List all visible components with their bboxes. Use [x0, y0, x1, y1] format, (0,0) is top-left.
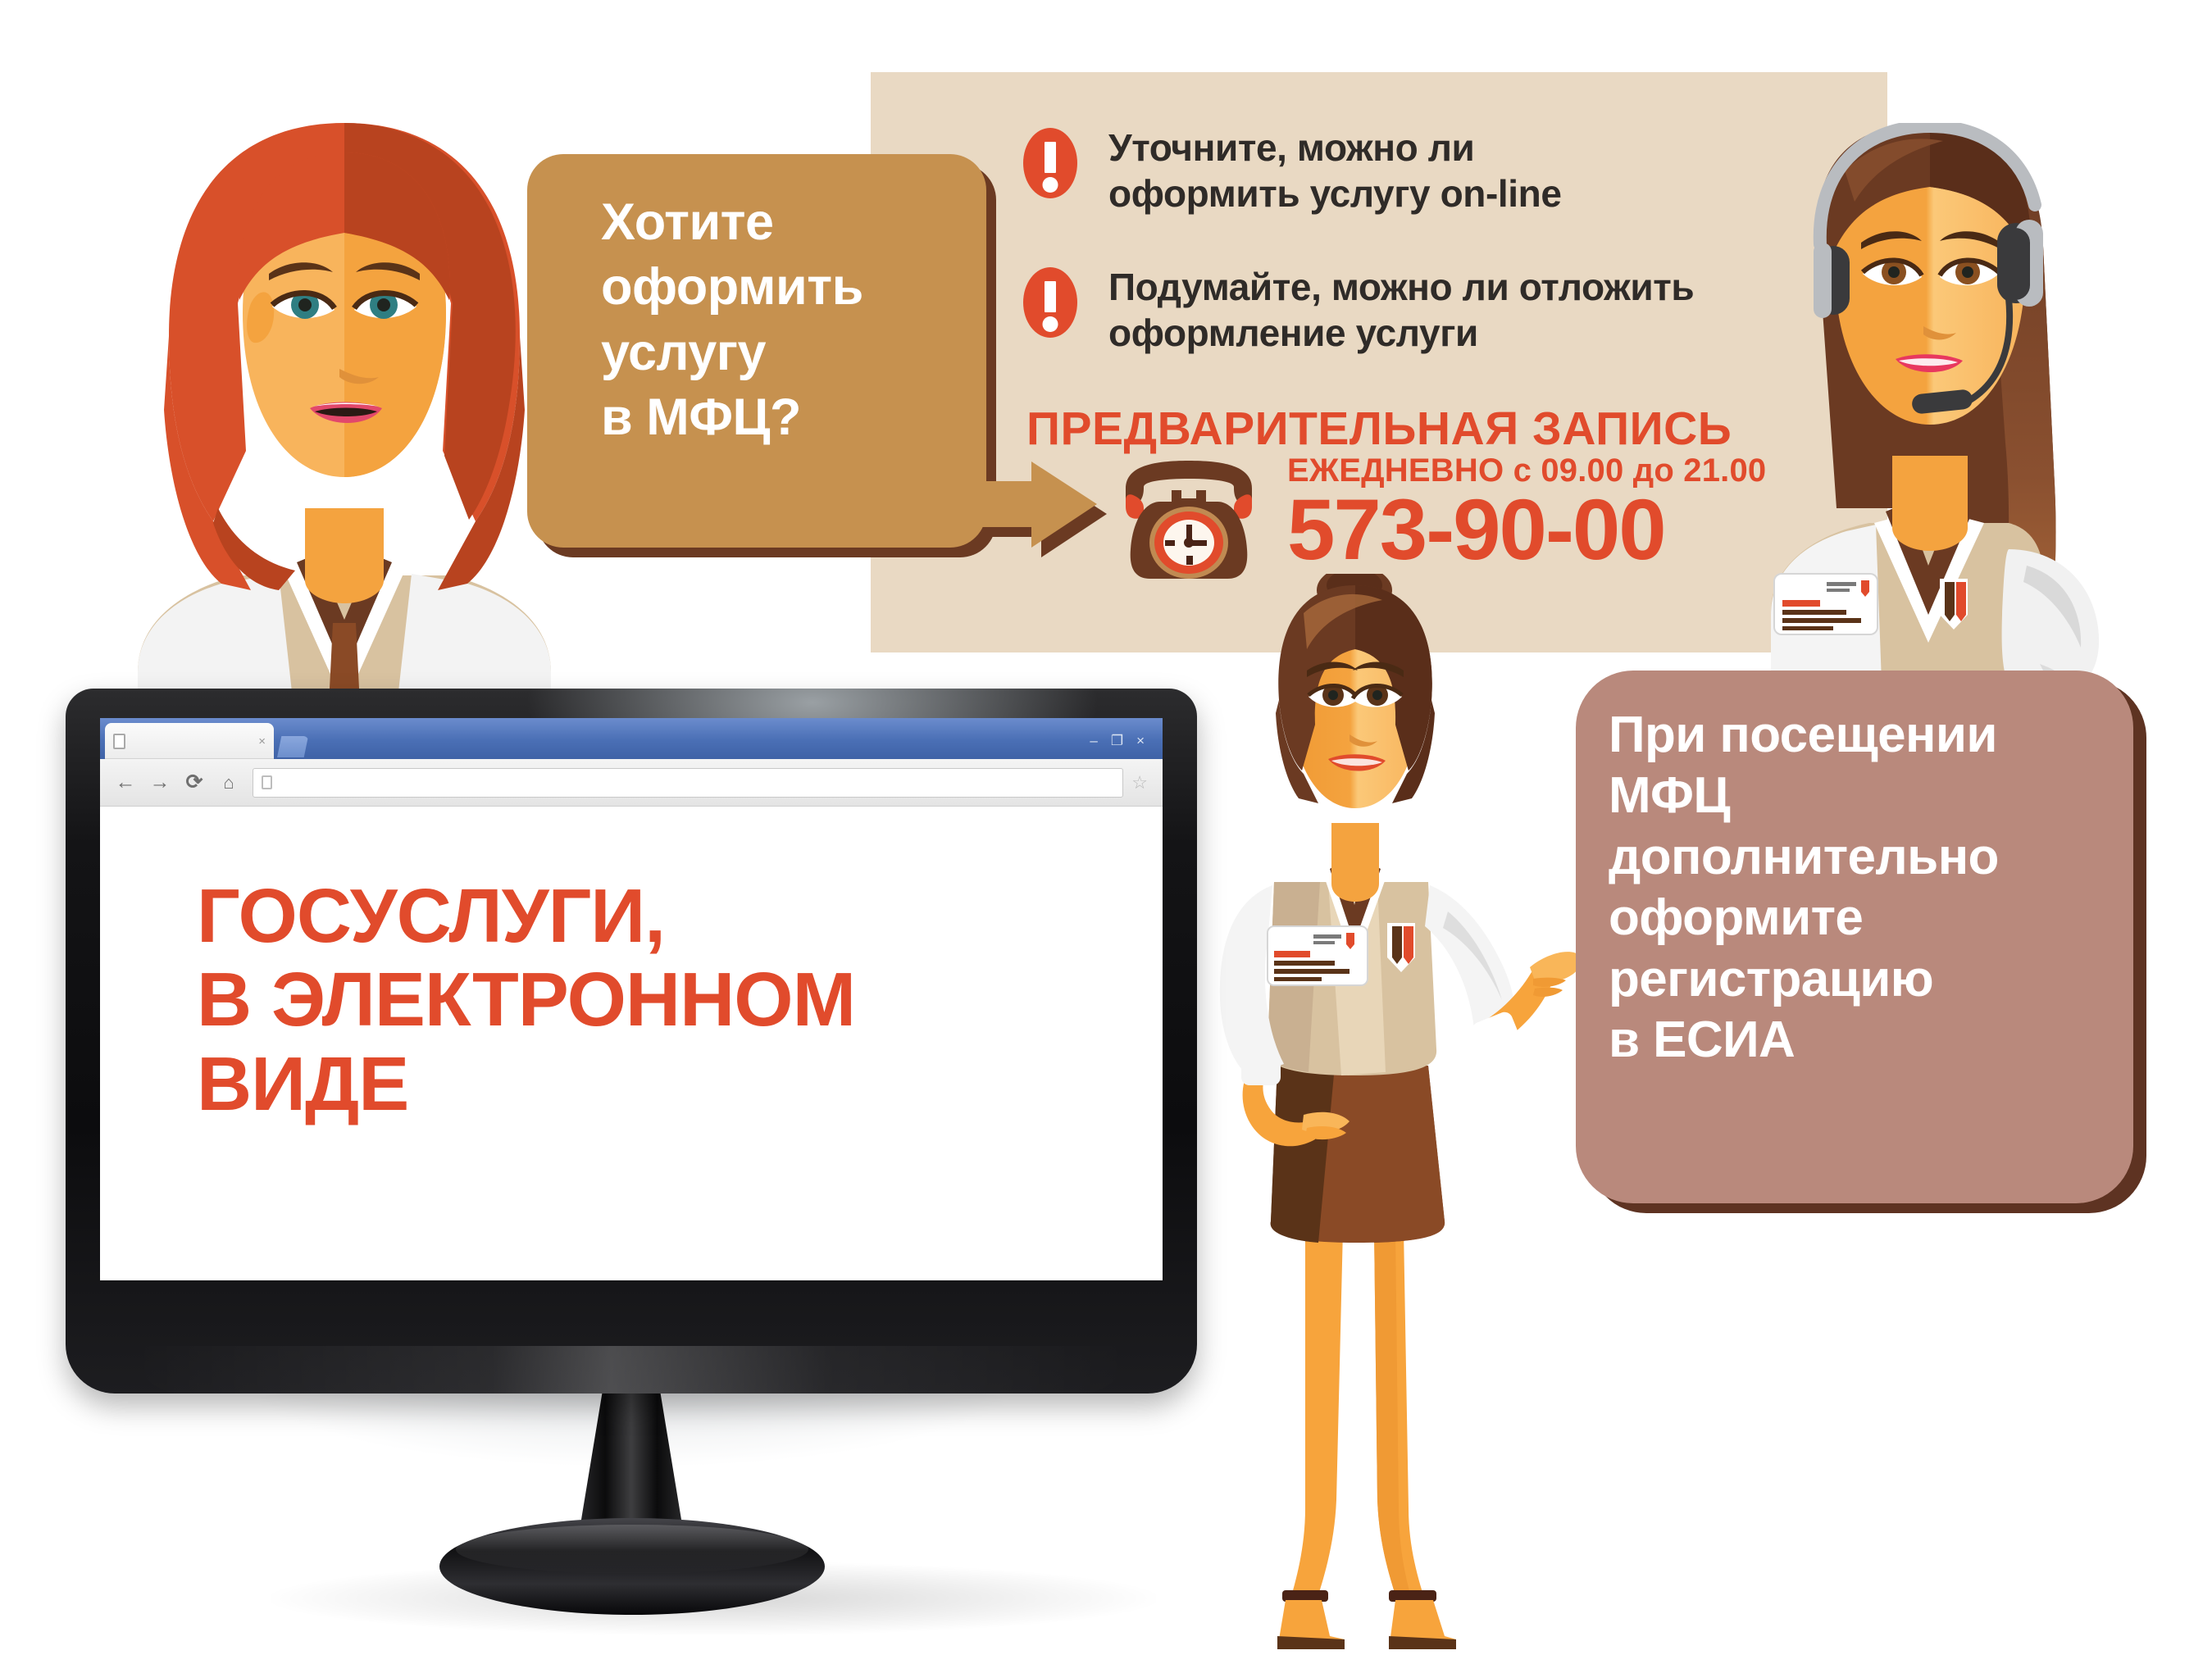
back-icon[interactable]: ← [115, 772, 136, 793]
browser-toolbar: ← → ⟳ ⌂ ☆ [100, 759, 1163, 807]
spb-gosuslugi-wordmark: Санкт-Петербург ГОСУСЛУГИ [802, 1279, 1131, 1280]
page-icon [262, 775, 272, 789]
exclamation-icon [1023, 267, 1077, 338]
reload-icon[interactable]: ⟳ [184, 772, 205, 793]
address-bar[interactable] [253, 768, 1123, 798]
speech-bubble-arrow [941, 461, 1097, 548]
red-haired-woman [90, 98, 599, 721]
standing-pointing-woman [1213, 574, 1591, 1656]
spb-gosuslugi-logo: Санкт-Петербург ГОСУСЛУГИ [684, 1279, 1131, 1280]
info-bullet-1: Уточните, можно ли оформить услугу on-li… [1023, 125, 1562, 216]
bookmark-star-icon[interactable]: ☆ [1131, 772, 1148, 793]
info-bullet-2: Подумайте, можно ли отложить оформление … [1023, 264, 1694, 356]
name-badge [1774, 574, 1877, 634]
info-bullet-1-text: Уточните, можно ли оформить услугу on-li… [1108, 125, 1562, 216]
exclamation-icon [1023, 128, 1077, 198]
spb-arrow-mark [684, 1279, 789, 1280]
maximize-icon[interactable]: ❐ [1111, 733, 1123, 749]
monitor-stand-base-highlight [456, 1525, 808, 1574]
close-window-icon[interactable]: × [1136, 733, 1145, 749]
forward-icon[interactable]: → [149, 772, 171, 793]
window-controls: – ❐ × [1090, 733, 1163, 759]
appointment-heading: ПРЕДВАРИТЕЛЬНАЯ ЗАПИСЬ [1026, 402, 1732, 456]
browser-window: × – ❐ × ← → ⟳ ⌂ [100, 718, 1163, 807]
speech-bubble-left-text: Хотите оформить услугу в МФЦ? [601, 190, 962, 451]
minimize-icon[interactable]: – [1090, 733, 1097, 749]
infographic-poster: Уточните, можно ли оформить услугу on-li… [0, 0, 2212, 1664]
home-icon[interactable]: ⌂ [218, 774, 239, 792]
close-icon[interactable]: × [258, 735, 266, 748]
page-icon [113, 734, 125, 749]
speech-bubble-right-text: При посещении МФЦ дополнительно оформите… [1609, 705, 2117, 1071]
web-page-content: ГОСУСЛУГИ, В ЭЛЕКТРОННОМ ВИДЕ [100, 807, 1163, 1280]
monitor-screen: × – ❐ × ← → ⟳ ⌂ [100, 718, 1163, 1280]
headset-operator-woman [1738, 123, 2164, 705]
browser-tab-bar: × – ❐ × [100, 718, 1163, 759]
info-bullet-2-text: Подумайте, можно ли отложить оформление … [1108, 264, 1694, 356]
spb-line-city: Санкт-Петербург [802, 1279, 1131, 1280]
phone-number: 573-90-00 [1287, 487, 1665, 573]
rotary-phone-clock-icon [1111, 459, 1267, 582]
name-badge [1268, 926, 1368, 985]
browser-tab[interactable]: × [105, 723, 274, 759]
monitor-bezel: × – ❐ × ← → ⟳ ⌂ [66, 689, 1197, 1393]
new-tab-icon[interactable] [277, 736, 308, 757]
computer-monitor: × – ❐ × ← → ⟳ ⌂ [66, 689, 1230, 1615]
page-title: ГОСУСЛУГИ, В ЭЛЕКТРОННОМ ВИДЕ [197, 874, 1066, 1125]
